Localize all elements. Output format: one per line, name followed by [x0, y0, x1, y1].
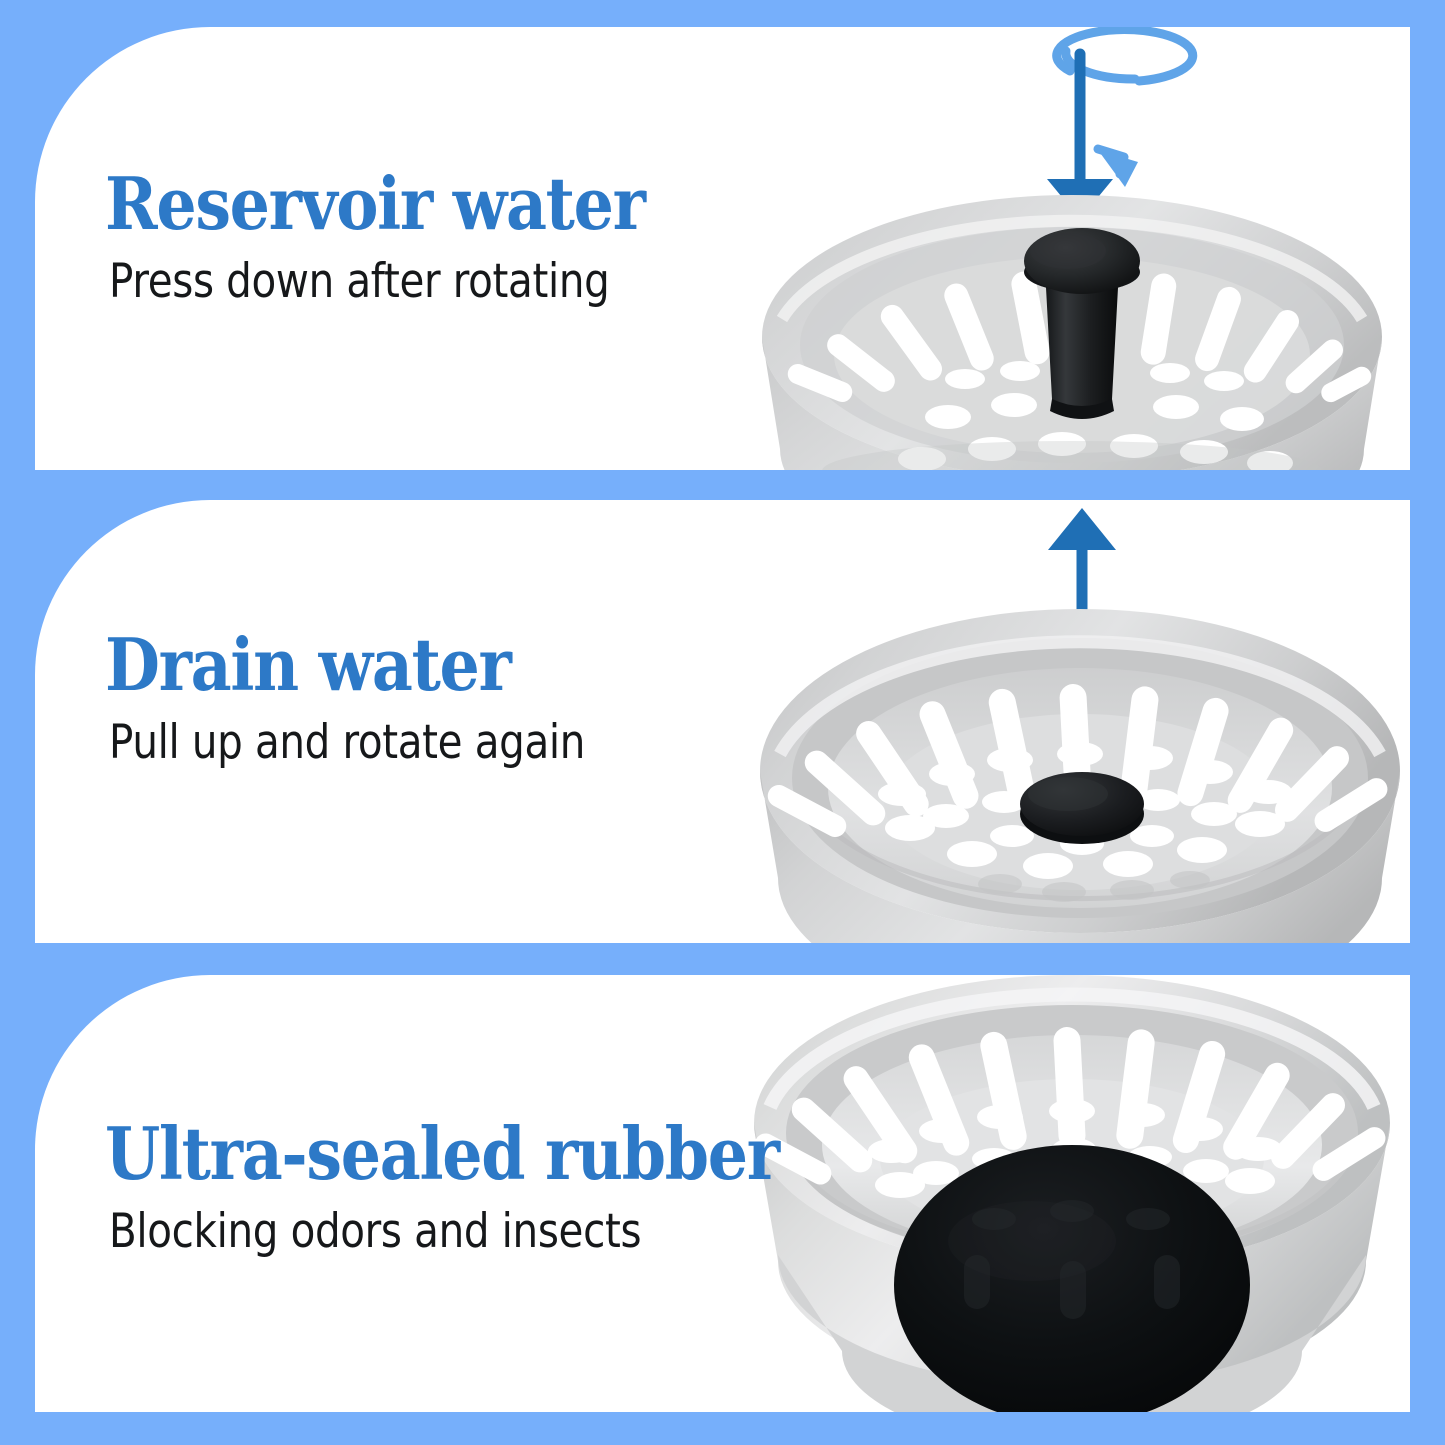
feature-subline: Press down after rotating — [109, 256, 633, 308]
infographic-page: Reservoir water Press down after rotatin… — [0, 0, 1445, 1445]
feature-headline: Drain water — [105, 628, 596, 703]
feature-headline: Reservoir water — [105, 167, 645, 242]
feature-subline: Blocking odors and insects — [109, 1206, 764, 1258]
feature-subline: Pull up and rotate again — [109, 717, 585, 769]
feature-text-block: Reservoir water Press down after rotatin… — [105, 167, 718, 308]
feature-headline: Ultra-sealed rubber — [105, 1117, 779, 1192]
strainer-illustration-3 — [742, 975, 1402, 1412]
rubber-seal-disc — [894, 1145, 1250, 1412]
black-stopper-knob — [1020, 772, 1144, 844]
feature-card-ultra-sealed-rubber: Ultra-sealed rubber Blocking odors and i… — [35, 975, 1410, 1412]
strainer-illustration-1 — [752, 27, 1392, 470]
feature-card-reservoir-water: Reservoir water Press down after rotatin… — [35, 27, 1410, 470]
feature-text-block: Drain water Pull up and rotate again — [105, 628, 663, 769]
feature-card-drain-water: Drain water Pull up and rotate again — [35, 500, 1410, 943]
strainer-illustration-2 — [760, 506, 1400, 943]
